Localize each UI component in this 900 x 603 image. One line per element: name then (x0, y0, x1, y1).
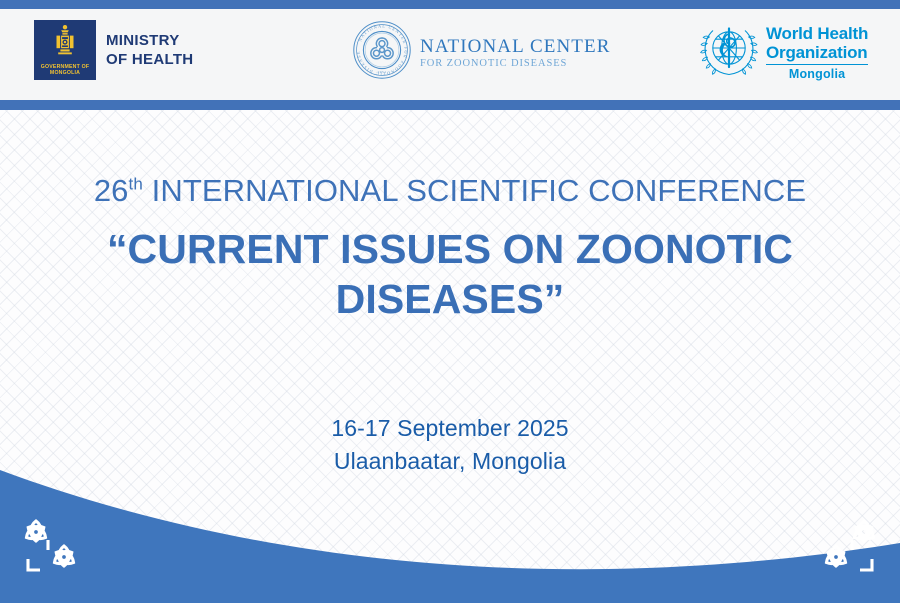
who-divider-rule (766, 64, 868, 66)
top-accent-bar (0, 0, 900, 9)
ministry-name-line-2: OF HEALTH (106, 50, 193, 69)
ministry-of-health-name: MINISTRY OF HEALTH (106, 31, 193, 69)
headline-block: 26th INTERNATIONAL SCIENTIFIC CONFERENCE… (0, 172, 900, 324)
nczd-name-line-2: FOR ZOONOTIC DISEASES (420, 57, 610, 70)
header-bottom-accent-bar (0, 100, 900, 110)
edition-ordinal: th (129, 175, 143, 194)
event-dates: 16-17 September 2025 (0, 412, 900, 445)
seal-year: 1951 (378, 70, 387, 74)
conference-edition-line: 26th INTERNATIONAL SCIENTIFIC CONFERENCE (0, 172, 900, 210)
badge-line-2: MONGOLIA (41, 70, 89, 76)
who-globe-laurel-emblem (700, 21, 758, 84)
edition-number: 26 (94, 173, 129, 208)
who-mongolia-logo: World Health Organization Mongolia (700, 21, 868, 84)
nczd-name-line-1: NATIONAL CENTER (420, 36, 610, 57)
conference-label: INTERNATIONAL SCIENTIFIC CONFERENCE (152, 173, 807, 208)
who-country-label: Mongolia (766, 67, 868, 81)
biohazard-seal: NATIONAL CENTER FOR ZOONOTIC DISEASES 19… (352, 20, 412, 85)
ministry-name-line-1: MINISTRY (106, 31, 193, 50)
who-name-line-1: World Health (766, 24, 868, 43)
triquetra-knot-ornament-left (14, 512, 94, 589)
mongolia-government-badge: GOVERNMENT OF MONGOLIA (34, 20, 96, 80)
triquetra-knot-ornament-right (806, 512, 886, 589)
conference-theme-title: “CURRENT ISSUES ON ZOONOTIC DISEASES” (0, 224, 900, 324)
nczd-name: NATIONAL CENTER FOR ZOONOTIC DISEASES (420, 36, 610, 70)
wave-blue-layer (0, 443, 900, 603)
soyombo-emblem (52, 24, 78, 63)
conference-title-slide: GOVERNMENT OF MONGOLIA MINISTRY OF HEALT… (0, 0, 900, 603)
who-name-line-2: Organization (766, 43, 868, 62)
national-center-zoonotic-diseases-logo: NATIONAL CENTER FOR ZOONOTIC DISEASES 19… (352, 20, 610, 85)
who-name: World Health Organization Mongolia (766, 24, 868, 82)
ministry-of-health-logo: GOVERNMENT OF MONGOLIA MINISTRY OF HEALT… (34, 20, 193, 80)
